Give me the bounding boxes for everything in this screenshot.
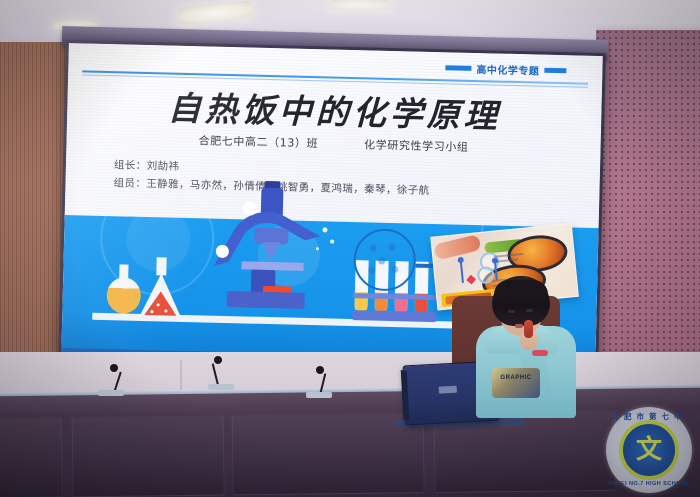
student-presenter: GRAPHIC [470,276,578,416]
bubble-icon [330,240,334,244]
bubble-icon [322,227,327,232]
microscope-icon [212,187,335,322]
round-bottom-flask-icon [106,264,141,315]
badge-bar-left-icon [445,65,471,71]
hoodie-graphic-text: GRAPHIC [494,375,538,381]
slide-subtitle-group: 化学研究性学习小组 [364,136,469,155]
desk-panel [0,418,63,497]
badge-label: 高中化学专题 [476,61,539,78]
conference-desk [0,388,700,497]
conical-flask-icon [140,257,181,316]
badge-bar-right-icon [544,68,566,74]
ceiling-light-icon [177,0,252,25]
slide-subtitle-class: 合肥七中高二（13）班 [198,132,318,151]
watermark-glyph: 文 [636,437,662,463]
slide-topic-badge: 高中化学专题 [445,60,566,78]
watermark-emblem: 文 [619,420,679,480]
lecture-hall-photo: 高中化学专题 自热饭中的化学原理 合肥七中高二（13）班 化学研究性学习小组 组… [0,0,700,497]
bubble-icon [316,247,319,250]
watermark-english-text: HEFEI NO.7 HIGH SCHOOL [606,481,692,487]
desk-panel [72,416,225,497]
handheld-microphone-icon [524,320,533,338]
school-watermark-logo: 合肥市第七中学 文 HEFEI NO.7 HIGH SCHOOL [606,407,692,493]
wristband [532,350,548,356]
ceiling-light-icon [330,0,390,10]
